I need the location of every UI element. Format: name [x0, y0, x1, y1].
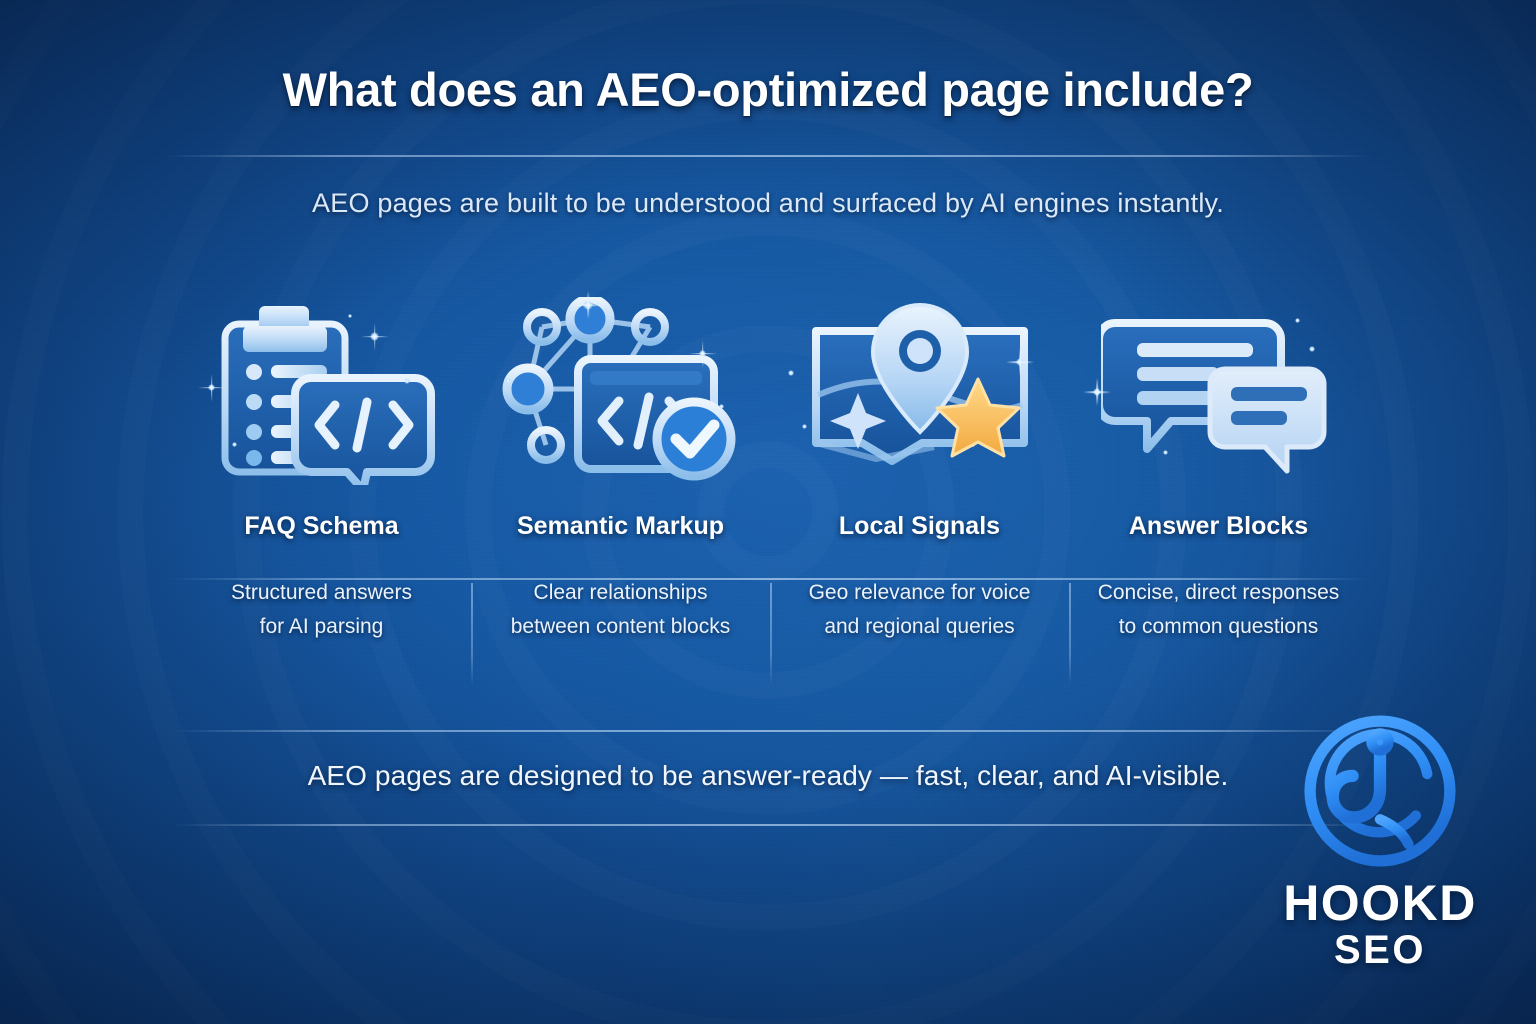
feature-title: FAQ Schema — [244, 506, 398, 546]
feature-description-line1: Structured answers — [231, 576, 412, 610]
infographic-canvas: What does an AEO-optimized page include?… — [0, 0, 1536, 1024]
feature-title: Local Signals — [839, 506, 1000, 546]
feature-column-answer-blocks: Answer Blocks Concise, direct responses … — [1069, 292, 1368, 692]
divider-below-tagline — [172, 824, 1368, 826]
brand-logo[interactable]: HOOKD SEO — [1252, 706, 1508, 971]
feature-description: Geo relevance for voice and regional que… — [809, 576, 1031, 644]
page-title: What does an AEO-optimized page include? — [0, 62, 1536, 117]
page-subtitle: AEO pages are built to be understood and… — [0, 188, 1536, 219]
divider-top — [165, 155, 1370, 157]
icon-container — [471, 292, 770, 492]
feature-description-line2: to common questions — [1098, 610, 1340, 644]
divider-above-tagline — [172, 730, 1368, 732]
feature-description: Concise, direct responses to common ques… — [1098, 576, 1340, 644]
network-code-check-icon — [498, 297, 743, 487]
speech-bubbles-icon — [1101, 307, 1336, 477]
icon-container — [172, 292, 471, 492]
feature-description-line2: between content blocks — [511, 610, 730, 644]
icon-container — [770, 292, 1069, 492]
feature-title: Semantic Markup — [517, 506, 724, 546]
feature-description: Structured answers for AI parsing — [231, 576, 412, 644]
feature-description-line1: Clear relationships — [511, 576, 730, 610]
feature-description-line1: Geo relevance for voice — [809, 576, 1031, 610]
sparkle-icon — [788, 370, 794, 376]
map-pin-star-icon — [800, 297, 1040, 487]
feature-title: Answer Blocks — [1129, 506, 1308, 546]
feature-description-line1: Concise, direct responses — [1098, 576, 1340, 610]
icon-container — [1069, 292, 1368, 492]
clipboard-code-icon — [207, 300, 437, 485]
feature-column-local-signals: Local Signals Geo relevance for voice an… — [770, 292, 1069, 692]
feature-columns: FAQ Schema Structured answers for AI par… — [172, 292, 1368, 692]
feature-column-faq-schema: FAQ Schema Structured answers for AI par… — [172, 292, 471, 692]
brand-name: HOOKD — [1252, 878, 1508, 929]
hook-circle-icon — [1295, 706, 1465, 876]
feature-description-line2: for AI parsing — [231, 610, 412, 644]
divider-middle — [172, 578, 1368, 580]
feature-description-line2: and regional queries — [809, 610, 1031, 644]
feature-column-semantic-markup: Semantic Markup Clear relationships betw… — [471, 292, 770, 692]
feature-description: Clear relationships between content bloc… — [511, 576, 730, 644]
sparkle-icon — [1093, 388, 1101, 396]
brand-subname: SEO — [1252, 929, 1508, 971]
